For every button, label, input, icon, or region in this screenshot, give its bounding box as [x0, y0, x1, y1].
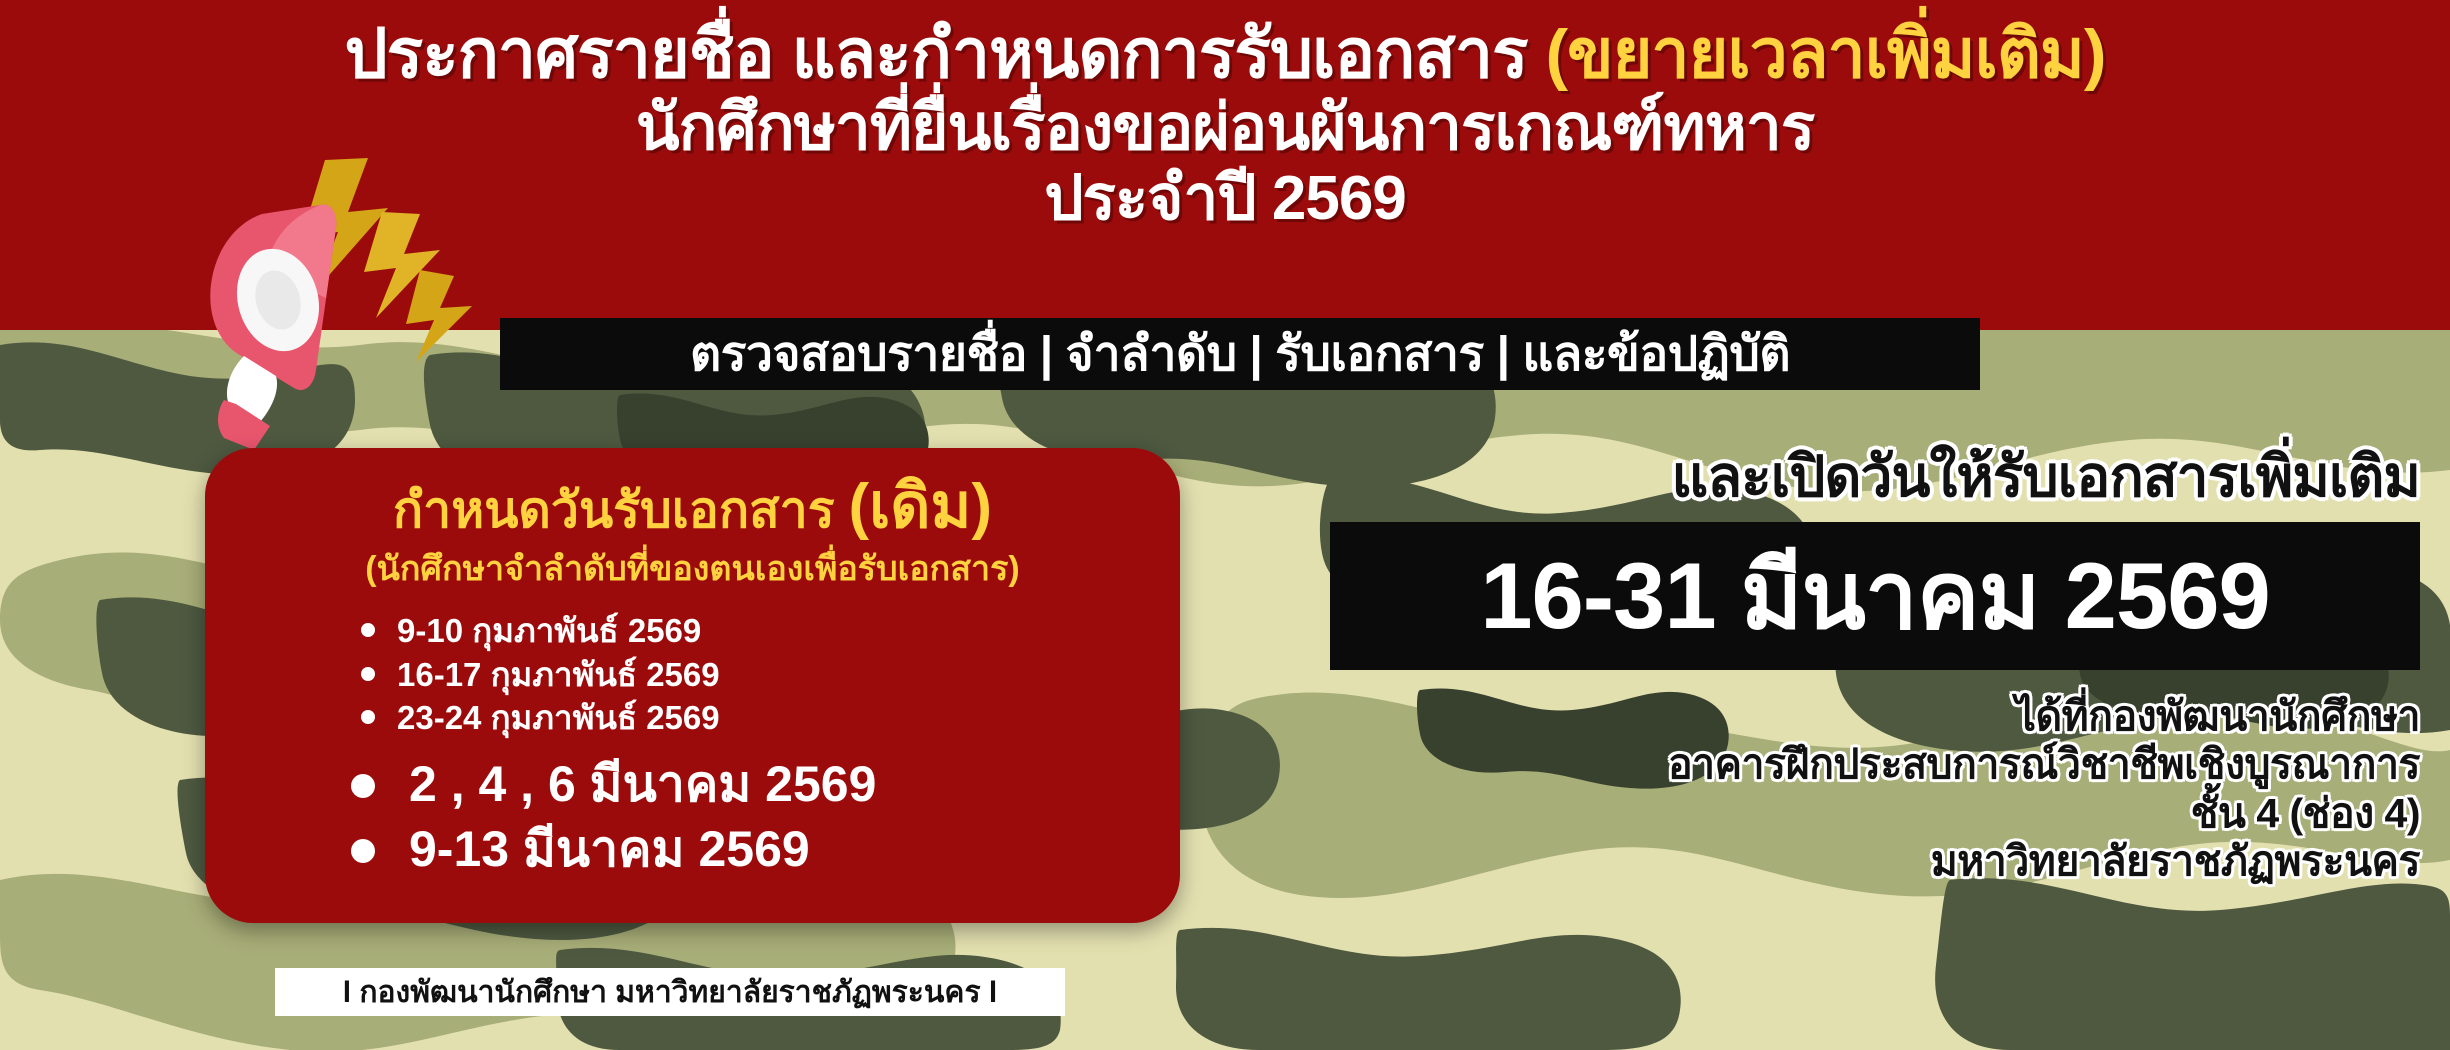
subtitle-bar-text: ตรวจสอบรายชื่อ | จำลำดับ | รับเอกสาร | แ…	[690, 316, 1790, 392]
extended-schedule-headline: และเปิดวันให้รับเอกสารเพิ่มเติม	[1300, 448, 2420, 508]
footer-strip: l กองพัฒนานักศึกษา มหาวิทยาลัยราชภัฏพระน…	[275, 968, 1065, 1016]
list-item: 16-17 กุมภาพันธ์ 2569	[355, 653, 1150, 697]
original-schedule-heading-paren: (เดิม)	[848, 472, 992, 541]
extended-schedule-column: และเปิดวันให้รับเอกสารเพิ่มเติม 16-31 มี…	[1300, 448, 2420, 885]
list-item: 9-13 มีนาคม 2569	[345, 817, 1150, 882]
subtitle-bar: ตรวจสอบรายชื่อ | จำลำดับ | รับเอกสาร | แ…	[500, 318, 1980, 390]
address-line-1: ได้ที่กองพัฒนานักศึกษา	[1300, 692, 2420, 740]
extended-date-banner: 16-31 มีนาคม 2569	[1330, 522, 2420, 670]
original-schedule-card: กำหนดวันรับเอกสาร (เดิม) (นักศึกษาจำลำดั…	[205, 448, 1180, 923]
title-line-1: ประกาศรายชื่อ และกำหนดการรับเอกสาร (ขยาย…	[0, 18, 2450, 90]
original-schedule-heading: กำหนดวันรับเอกสาร (เดิม)	[235, 474, 1150, 539]
address-line-3: ชั้น 4 (ช่อง 4)	[1300, 789, 2420, 837]
address-line-2: อาคารฝึกประสบการณ์วิชาชีพเชิงบูรณาการ	[1300, 740, 2420, 788]
footer-text: l กองพัฒนานักศึกษา มหาวิทยาลัยราชภัฏพระน…	[343, 969, 998, 1016]
original-schedule-heading-main: กำหนดวันรับเอกสาร	[393, 482, 849, 538]
list-item: 9-10 กุมภาพันธ์ 2569	[355, 609, 1150, 653]
original-schedule-subheading: (นักศึกษาจำลำดับที่ของตนเองเพื่อรับเอกสา…	[235, 541, 1150, 595]
title-line-1-highlight: (ขยายเวลาเพิ่มเติม)	[1545, 16, 2105, 92]
original-schedule-big-date-list: 2 , 4 , 6 มีนาคม 2569 9-13 มีนาคม 2569	[345, 752, 1150, 882]
original-schedule-small-date-list: 9-10 กุมภาพันธ์ 2569 16-17 กุมภาพันธ์ 25…	[355, 609, 1150, 740]
list-item: 2 , 4 , 6 มีนาคม 2569	[345, 752, 1150, 817]
title-line-1-main: ประกาศรายชื่อ และกำหนดการรับเอกสาร	[345, 16, 1546, 92]
list-item: 23-24 กุมภาพันธ์ 2569	[355, 696, 1150, 740]
megaphone-icon	[120, 150, 550, 450]
extended-date-banner-text: 16-31 มีนาคม 2569	[1480, 521, 2270, 670]
pickup-address-block: ได้ที่กองพัฒนานักศึกษา อาคารฝึกประสบการณ…	[1300, 692, 2420, 886]
address-line-4: มหาวิทยาลัยราชภัฏพระนคร	[1300, 837, 2420, 885]
megaphone-icon-svg	[120, 150, 550, 450]
